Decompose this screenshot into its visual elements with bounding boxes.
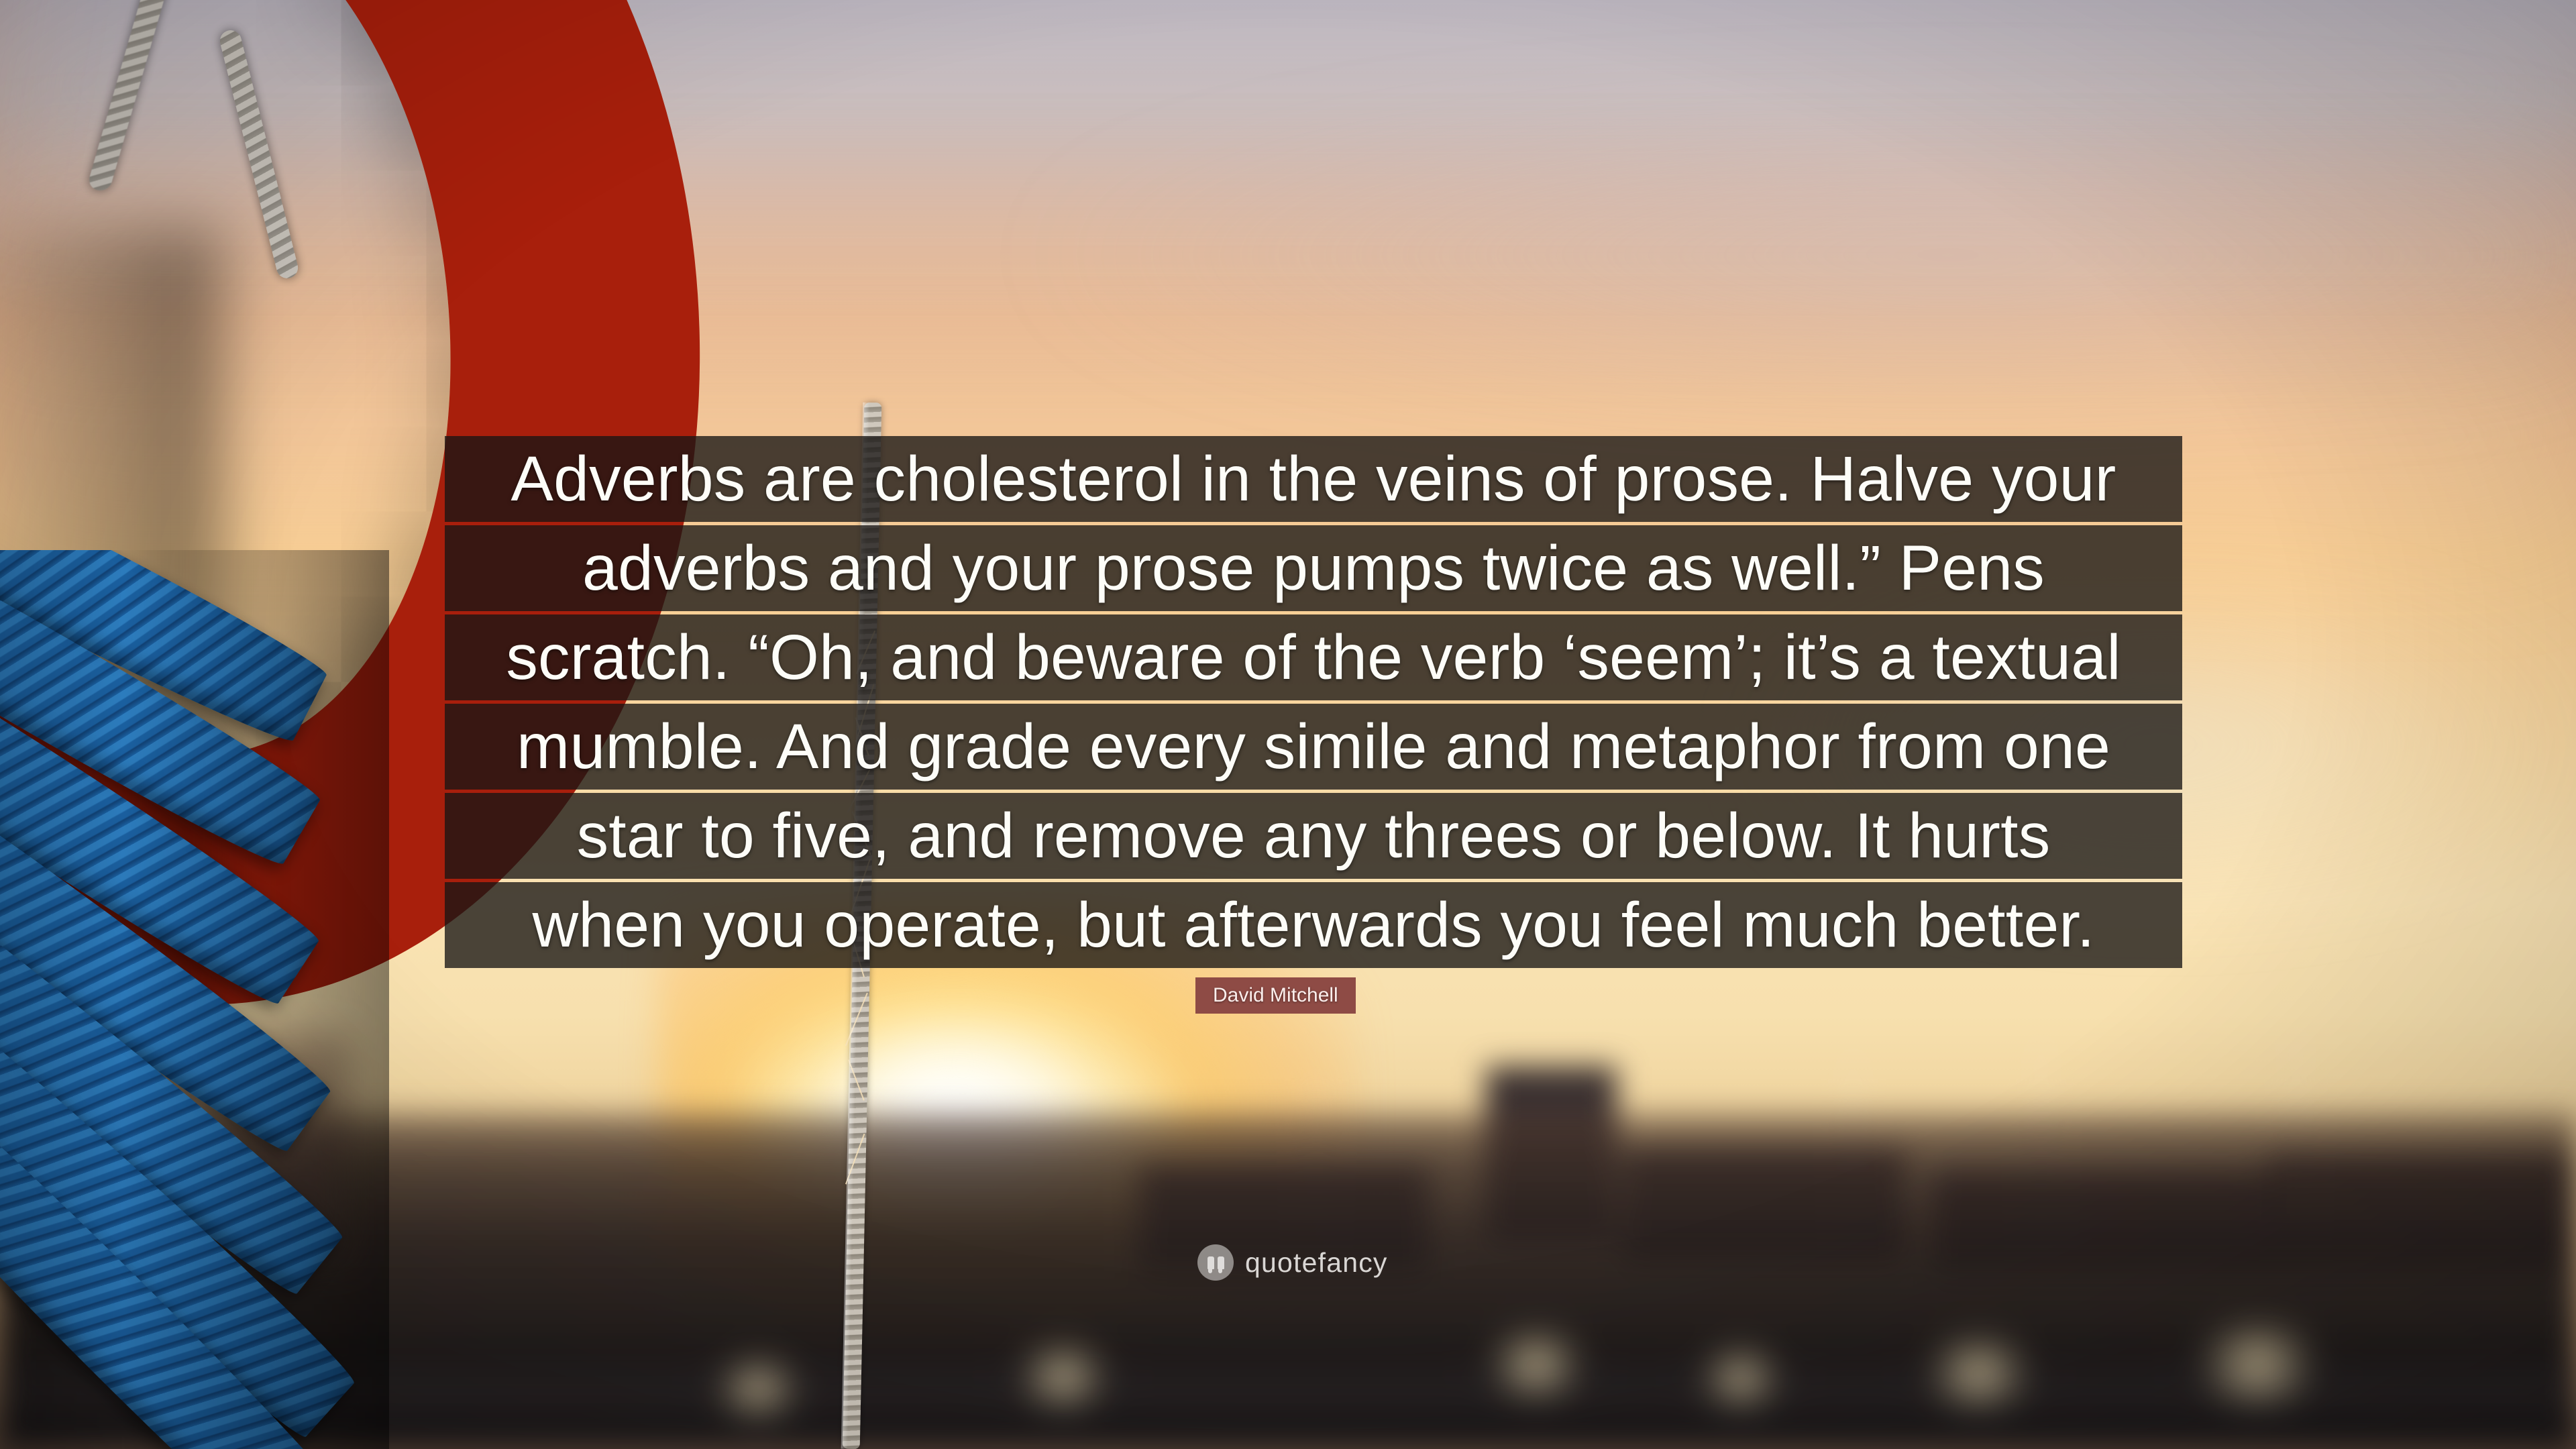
quote-line: mumble. And grade every simile and metap… (445, 704, 2182, 790)
quote-mark-icon (1197, 1244, 1234, 1281)
wallpaper-canvas: Adverbs are cholesterol in the veins of … (0, 0, 2576, 1449)
water-glint (1476, 1335, 1597, 1395)
quote-line: star to five, and remove any threes or b… (445, 793, 2182, 879)
water-glint (704, 1362, 812, 1415)
quote-block: Adverbs are cholesterol in the veins of … (445, 436, 2182, 968)
rope-fray (845, 1134, 865, 1185)
author-badge[interactable]: David Mitchell (1195, 977, 1356, 1014)
watermark-label: quotefancy (1245, 1249, 1388, 1277)
blue-coiled-rope (0, 550, 389, 1449)
quote-line: adverbs and your prose pumps twice as we… (445, 525, 2182, 611)
water-glint (2180, 1328, 2334, 1402)
quotefancy-watermark[interactable]: quotefancy (1197, 1244, 1388, 1281)
rope-fray (848, 1059, 865, 1100)
water-glint (1690, 1352, 1791, 1405)
cloud-band (1006, 114, 2576, 396)
quote-line: when you operate, but afterwards you fee… (445, 882, 2182, 968)
quote-line: scratch. “Oh, and beware of the verb ‘se… (445, 614, 2182, 700)
water-glint (1912, 1342, 2046, 1405)
quote-line: Adverbs are cholesterol in the veins of … (445, 436, 2182, 522)
water-glint (1006, 1348, 1120, 1405)
